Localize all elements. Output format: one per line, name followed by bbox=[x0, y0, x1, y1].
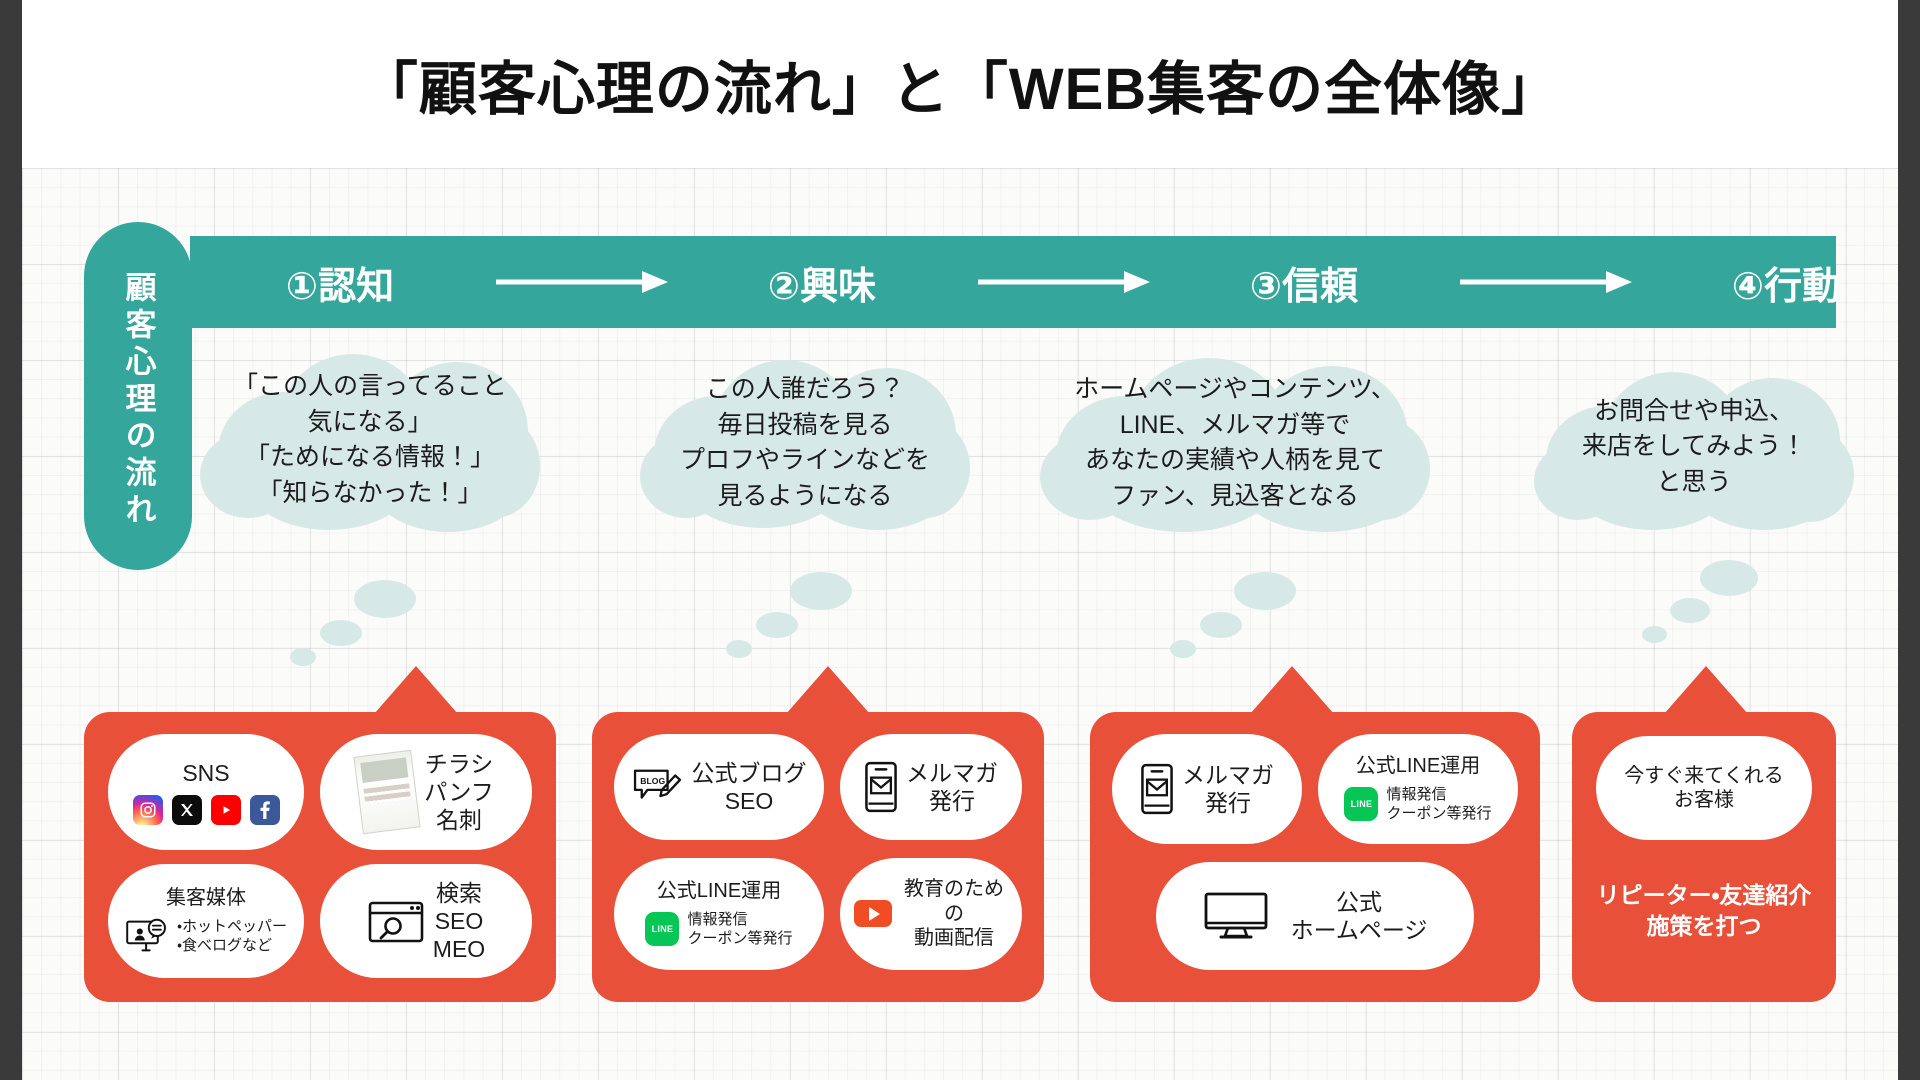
line-icon: LINE bbox=[645, 912, 679, 946]
repeat-referral-note: リピーター・友達紹介 施策を打つ bbox=[1572, 880, 1836, 942]
svg-text:BLOG: BLOG bbox=[640, 776, 665, 786]
thought-cloud-text-4: お問合せや申込、 来店をしてみよう！ と思う bbox=[1582, 394, 1806, 501]
page-title: 「顧客心理の流れ」と「WEB集客の全体像」 bbox=[360, 42, 1560, 126]
channel-item-label: 集客媒体 bbox=[166, 886, 246, 910]
channel-item-search[interactable]: 検索 SEO MEO bbox=[320, 864, 532, 978]
channel-item-flyer[interactable]: チラシ パンフ 名刺 bbox=[320, 734, 532, 850]
channel-item-label: 公式 ホームページ bbox=[1291, 888, 1428, 944]
channel-item-video-distribution[interactable]: 教育のための 動画配信 bbox=[840, 858, 1022, 970]
channel-item-label: チラシ パンフ 名刺 bbox=[424, 750, 493, 834]
callout-tail-1 bbox=[374, 666, 458, 714]
youtube-play-icon bbox=[854, 900, 892, 927]
thought-cloud-4: お問合せや申込、 来店をしてみよう！ と思う bbox=[1534, 362, 1854, 532]
channel-item-sub: 情報発信 クーポン等発行 bbox=[687, 910, 792, 949]
x-icon bbox=[172, 795, 202, 825]
stage-arrow-1-to-2 bbox=[490, 269, 672, 295]
flyer-icon bbox=[354, 750, 421, 834]
channel-box-column-1: SNS bbox=[84, 712, 556, 1002]
browser-search-icon bbox=[367, 898, 425, 944]
stage-arrow-3-to-4 bbox=[1454, 269, 1636, 295]
vertical-tab-label: 顧客心理の流れ bbox=[123, 271, 154, 530]
left-rail bbox=[0, 0, 22, 1080]
title-band: 「顧客心理の流れ」と「WEB集客の全体像」 bbox=[22, 0, 1898, 168]
channel-item-official-blog[interactable]: BLOG 公式ブログ SEO bbox=[614, 734, 824, 840]
slide-root: 「顧客心理の流れ」と「WEB集客の全体像」 顧客心理の流れ ①認知 ②興味 ③信… bbox=[0, 0, 1920, 1080]
thought-cloud-3: ホームページやコンテンツ、 LINE、メルマガ等で あなたの実績や人柄を見て フ… bbox=[1040, 348, 1430, 538]
channel-item-immediate-customer[interactable]: 今すぐ来てくれる お客様 bbox=[1596, 736, 1812, 840]
right-rail bbox=[1898, 0, 1920, 1080]
channel-item-label: 公式LINE運用 bbox=[657, 879, 781, 903]
blog-pen-icon: BLOG bbox=[632, 765, 684, 809]
thought-cloud-text-1: 「この人の言ってること 気になる」 「ためになる情報！」 「知らなかった！」 bbox=[233, 369, 507, 511]
channel-item-sns[interactable]: SNS bbox=[108, 734, 304, 850]
channel-item-official-website[interactable]: 公式 ホームページ bbox=[1156, 862, 1474, 970]
youtube-icon bbox=[211, 795, 241, 825]
stage-label-3: ③信頼 bbox=[1154, 255, 1454, 310]
channel-item-label: 今すぐ来てくれる お客様 bbox=[1624, 764, 1783, 813]
channel-item-label: メルマガ 発行 bbox=[906, 759, 998, 815]
channel-box-column-2: BLOG 公式ブログ SEO メルマガ 発 bbox=[592, 712, 1044, 1002]
channel-box-column-4: 今すぐ来てくれる お客様 リピーター・友達紹介 施策を打つ bbox=[1572, 712, 1836, 1002]
channel-item-sub: ・ホットペッパー ・食べログなど bbox=[177, 917, 287, 956]
thought-cloud-text-3: ホームページやコンテンツ、 LINE、メルマガ等で あなたの実績や人柄を見て フ… bbox=[1074, 372, 1396, 514]
channel-item-label: SNS bbox=[182, 759, 229, 787]
thought-cloud-2: この人誰だろう？ 毎日投稿を見る プロフやラインなどを 見るようになる bbox=[640, 348, 970, 538]
stage-arrow-2-to-3 bbox=[972, 269, 1154, 295]
channel-item-official-line[interactable]: 公式LINE運用 LINE 情報発信 クーポン等発行 bbox=[1318, 734, 1518, 844]
channel-box-column-3: メルマガ 発行 公式LINE運用 LINE 情報発信 クーポン等発行 bbox=[1090, 712, 1540, 1002]
stage-label-4: ④行動 bbox=[1636, 255, 1920, 310]
channel-item-label: メルマガ 発行 bbox=[1182, 761, 1274, 817]
callout-tail-4 bbox=[1664, 666, 1748, 714]
channel-item-label: 公式LINE運用 bbox=[1356, 754, 1480, 778]
channel-item-mail-magazine[interactable]: メルマガ 発行 bbox=[1112, 734, 1302, 844]
phone-mail-icon bbox=[1140, 763, 1174, 815]
channel-item-label: 検索 SEO MEO bbox=[433, 879, 485, 963]
callout-tail-3 bbox=[1250, 666, 1334, 714]
channel-item-label: 教育のための 動画配信 bbox=[900, 877, 1008, 950]
desktop-icon bbox=[1203, 890, 1269, 942]
stage-label-1: ①認知 bbox=[190, 255, 490, 310]
channel-item-mail-magazine[interactable]: メルマガ 発行 bbox=[840, 734, 1022, 840]
phone-mail-icon bbox=[864, 761, 898, 813]
stage-label-2: ②興味 bbox=[672, 255, 972, 310]
line-icon: LINE bbox=[1344, 787, 1378, 821]
vertical-tab-customer-psychology: 顧客心理の流れ bbox=[84, 222, 192, 570]
channel-item-attraction-media[interactable]: 集客媒体 ・ホットペッパー ・食べログなど bbox=[108, 864, 304, 978]
monitor-person-icon bbox=[125, 918, 169, 954]
instagram-icon bbox=[133, 795, 163, 825]
stage-header-bar: ①認知 ②興味 ③信頼 ④行動 bbox=[190, 236, 1836, 328]
channel-item-official-line[interactable]: 公式LINE運用 LINE 情報発信 クーポン等発行 bbox=[614, 858, 824, 970]
channel-item-sub: 情報発信 クーポン等発行 bbox=[1386, 785, 1491, 824]
sns-brand-icons bbox=[133, 795, 280, 825]
thought-cloud-1: 「この人の言ってること 気になる」 「ためになる情報！」 「知らなかった！」 bbox=[200, 340, 540, 540]
facebook-icon bbox=[250, 795, 280, 825]
thought-cloud-text-2: この人誰だろう？ 毎日投稿を見る プロフやラインなどを 見るようになる bbox=[680, 372, 930, 514]
callout-tail-2 bbox=[786, 666, 870, 714]
channel-item-label: 公式ブログ SEO bbox=[692, 759, 807, 815]
